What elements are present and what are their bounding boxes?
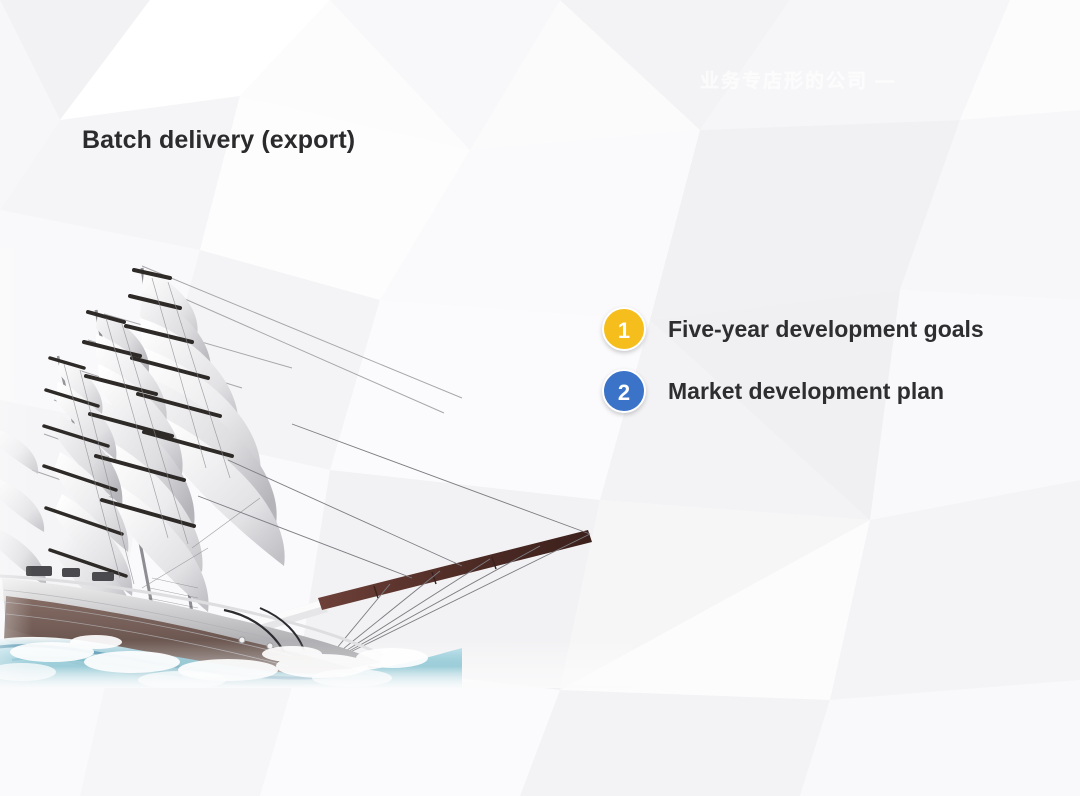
agenda-label-1: Five-year development goals [668,316,984,343]
agenda-item-2[interactable]: 2 Market development plan [602,360,1042,422]
agenda-list: 1 Five-year development goals 2 Market d… [602,298,1042,422]
agenda-item-1[interactable]: 1 Five-year development goals [602,298,1042,360]
slide-canvas: 业务专店形的公司 — Batch delivery (export) [0,0,1080,796]
page-title: Batch delivery (export) [82,126,355,155]
agenda-label-2: Market development plan [668,378,944,405]
agenda-badge-1: 1 [602,307,646,351]
agenda-badge-2: 2 [602,369,646,413]
